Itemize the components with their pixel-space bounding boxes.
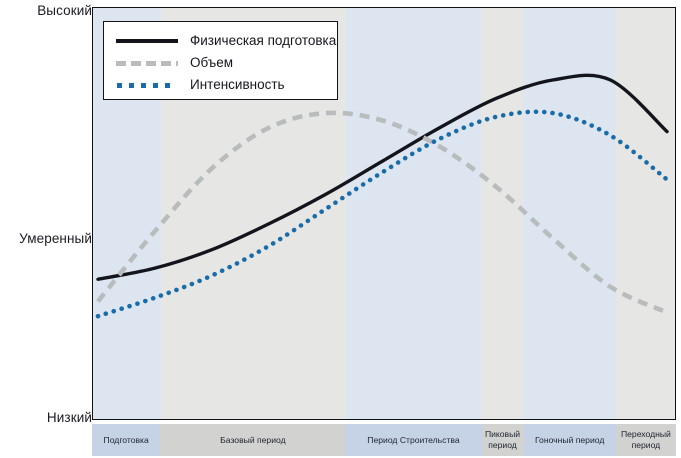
- period-label-3: Пиковый период: [482, 424, 524, 456]
- y-axis-label-high: Высокий: [37, 3, 92, 18]
- period-label-5: Переходный период: [616, 424, 676, 456]
- y-axis-label-low: Низкий: [47, 410, 92, 425]
- legend-swatch-dotted-line-icon: [116, 79, 178, 91]
- chart-legend: Физическая подготовка Объем Интенсивност…: [103, 21, 338, 100]
- training-periodization-chart: Высокий Умеренный Низкий Физическая подг…: [0, 0, 681, 458]
- series-line-intensity: [98, 112, 667, 316]
- legend-swatch-dashed-line-icon: [116, 57, 178, 69]
- legend-item-volume: Объем: [104, 53, 337, 73]
- legend-swatch-solid-line-icon: [116, 35, 178, 47]
- legend-item-fitness: Физическая подготовка: [104, 31, 337, 51]
- y-axis-label-moderate: Умеренный: [19, 231, 92, 246]
- period-category-axis: ПодготовкаБазовый периодПериод Строитель…: [92, 424, 676, 456]
- period-label-2: Период Строительства: [345, 424, 481, 456]
- period-label-4: Гоночный период: [524, 424, 616, 456]
- series-line-fitness: [98, 75, 667, 279]
- period-label-1: Базовый период: [160, 424, 345, 456]
- legend-label-volume: Объем: [190, 56, 233, 70]
- period-label-0: Подготовка: [92, 424, 160, 456]
- legend-label-intensity: Интенсивность: [190, 78, 285, 92]
- plot-area: Физическая подготовка Объем Интенсивност…: [92, 7, 676, 420]
- series-line-volume: [98, 113, 667, 313]
- legend-item-intensity: Интенсивность: [104, 75, 337, 95]
- legend-label-fitness: Физическая подготовка: [190, 34, 336, 48]
